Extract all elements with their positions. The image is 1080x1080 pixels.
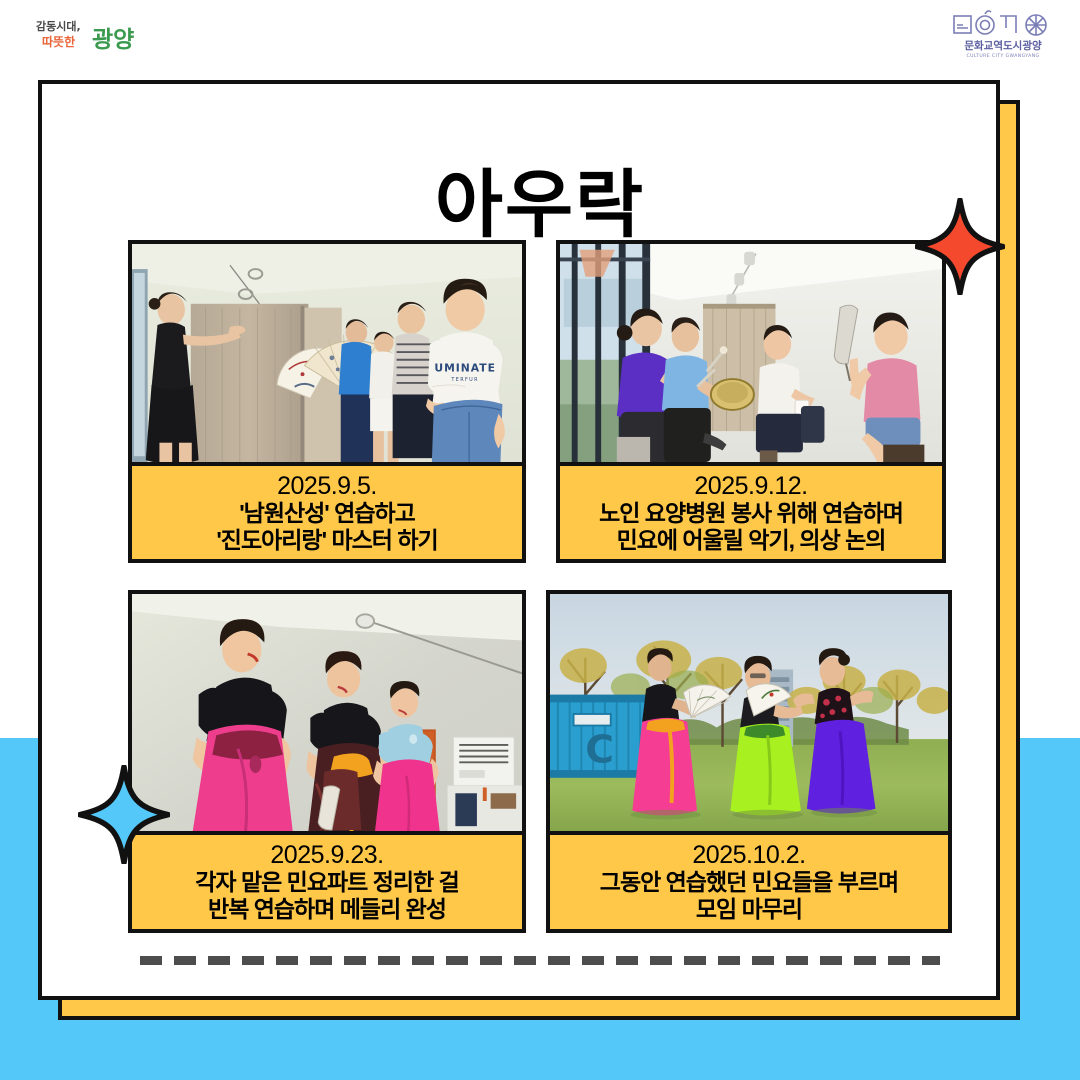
caption-date: 2025.10.2.: [554, 841, 944, 869]
brand-tagline-line1: 감동시대,: [36, 19, 81, 33]
caption-line-1: 노인 요양병원 봉사 위해 연습하며: [564, 500, 938, 527]
caption-line-2: 민요에 어울릴 악기, 의상 논의: [564, 527, 938, 554]
activity-photo-outdoor-hanbok-fan-dance: C: [546, 590, 952, 835]
caption-line-2: 모임 마무리: [554, 896, 944, 923]
brand-wordmark: 광양: [92, 27, 134, 53]
logo-korean-text: 문화교역도시광양: [964, 39, 1042, 52]
dashed-divider: [140, 956, 940, 965]
caption-line-1: '남원산성' 연습하고: [136, 500, 518, 527]
activity-card: 2025.9.12. 노인 요양병원 봉사 위해 연습하며 민요에 어울릴 악기…: [556, 240, 946, 563]
activity-photo-seated-instrument-circle: [556, 240, 946, 466]
card-caption: 2025.9.12. 노인 요양병원 봉사 위해 연습하며 민요에 어울릴 악기…: [556, 462, 946, 563]
activity-card: UMINATE TERFUR 2025.9.5. '남원산성' 연습하고 '진도…: [128, 240, 526, 563]
card-caption: 2025.9.5. '남원산성' 연습하고 '진도아리랑' 마스터 하기: [128, 462, 526, 563]
svg-text:C: C: [585, 728, 614, 773]
caption-line-1: 그동안 연습했던 민요들을 부르며: [554, 869, 944, 896]
caption-date: 2025.9.5.: [136, 472, 518, 500]
svg-text:UMINATE: UMINATE: [434, 361, 496, 374]
caption-line-2: '진도아리랑' 마스터 하기: [136, 527, 518, 554]
logo-english-text: CULTURE CITY GWANGYANG: [966, 53, 1039, 59]
logo-glyph-group: [954, 11, 1046, 35]
brand-tagline-line2: 따뜻한: [42, 34, 75, 49]
card-caption: 2025.10.2. 그동안 연습했던 민요들을 부르며 모임 마무리: [546, 831, 952, 933]
card-caption: 2025.9.23. 각자 맡은 민요파트 정리한 걸 반복 연습하며 메들리 …: [128, 831, 526, 933]
culture-city-gwangyang-logo: 문화교역도시광양 CULTURE CITY GWANGYANG: [948, 6, 1058, 62]
caption-date: 2025.9.12.: [564, 472, 938, 500]
caption-date: 2025.9.23.: [136, 841, 518, 869]
four-point-star-blue-icon: [78, 765, 170, 865]
activity-card: 2025.9.23. 각자 맡은 민요파트 정리한 걸 반복 연습하며 메들리 …: [128, 590, 526, 933]
activity-card: C: [546, 590, 952, 933]
svg-text:TERFUR: TERFUR: [450, 377, 479, 383]
caption-line-1: 각자 맡은 민요파트 정리한 걸: [136, 869, 518, 896]
activity-photo-hanbok-indoor-singing: [128, 590, 526, 835]
activity-photo-indoor-fan-practice: UMINATE TERFUR: [128, 240, 526, 466]
caption-line-2: 반복 연습하며 메들리 완성: [136, 896, 518, 923]
four-point-star-red-icon: [915, 198, 1005, 296]
gwangyang-city-brand-logo: 감동시대, 따뜻한 광양: [30, 14, 170, 60]
